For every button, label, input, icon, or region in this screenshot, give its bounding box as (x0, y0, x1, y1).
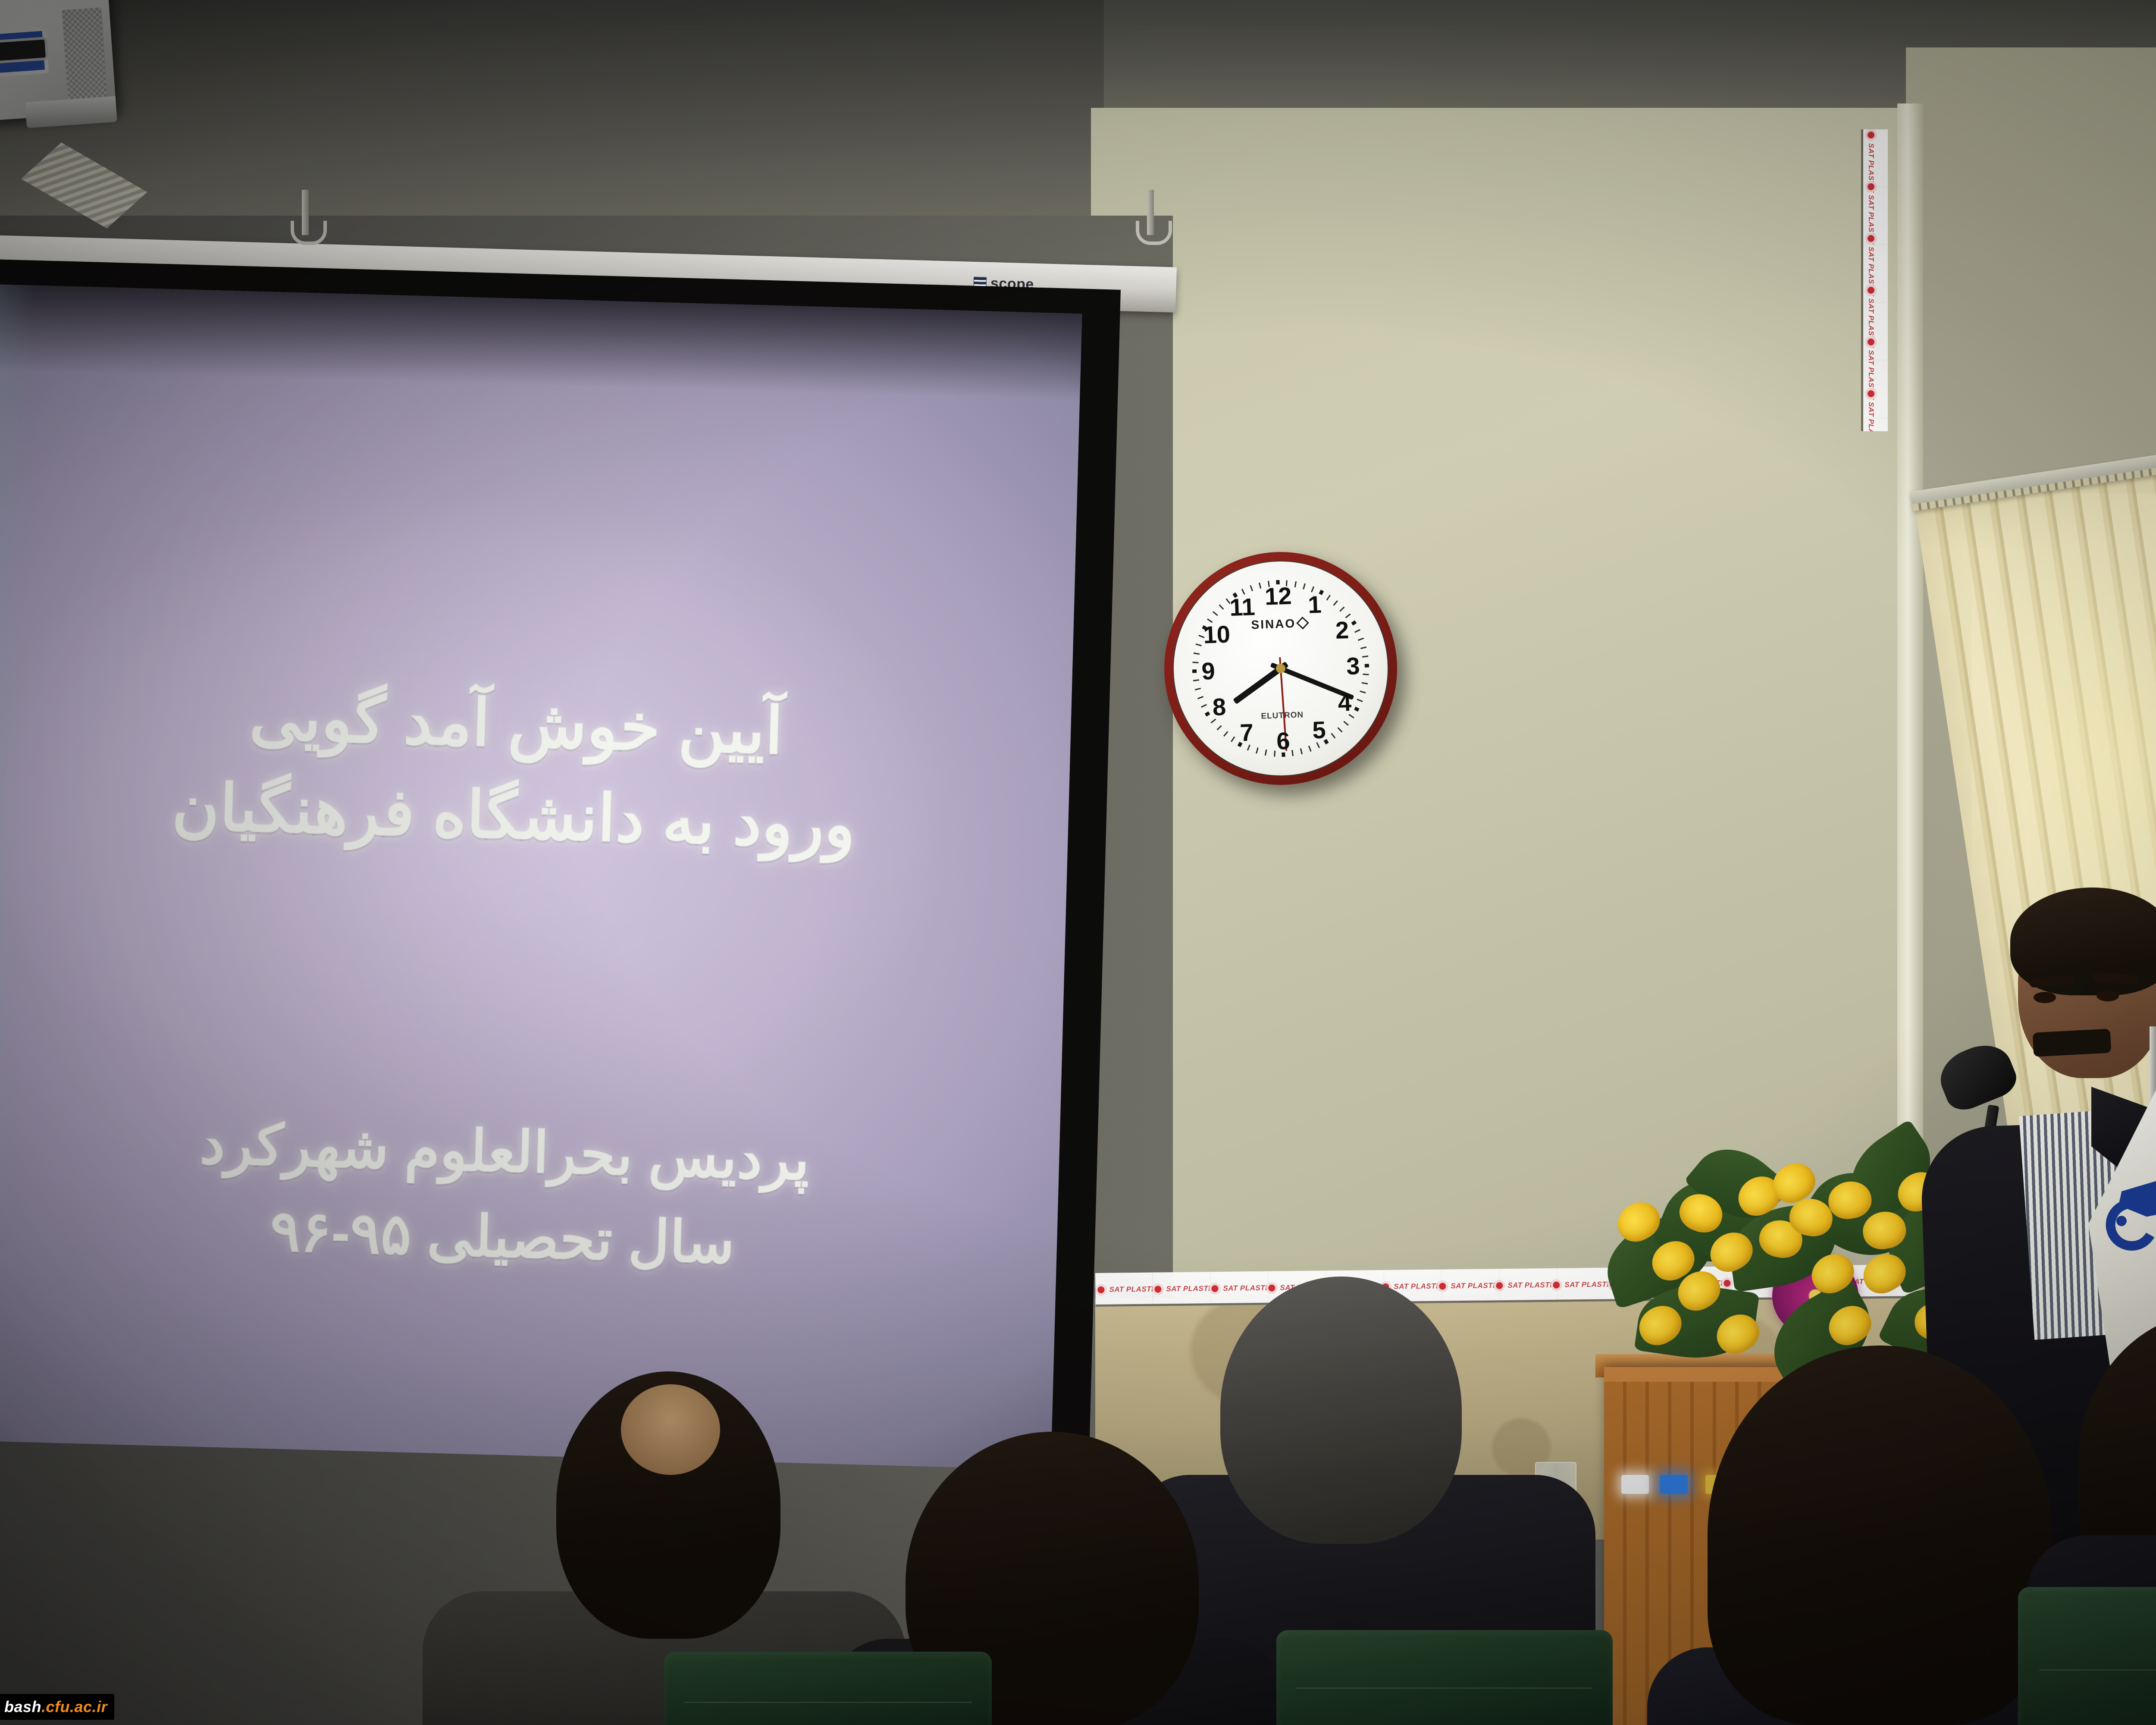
film-strip-logo-text: SAT PLASTIK (1507, 1281, 1557, 1290)
speaker-mustache (2033, 1029, 2112, 1057)
film-strip-logo-text: SAT PLASTIK (1867, 402, 1875, 431)
speaker-eye-right (2096, 990, 2119, 1001)
screen-ceiling-hook-left (302, 190, 309, 235)
clock-face: SINAO ELUTRON 121234567891011 (1169, 557, 1392, 780)
film-strip-logo: SAT PLASTIK (1437, 1276, 1493, 1296)
film-strip-logo-text: SAT PLASTIK (1394, 1282, 1444, 1291)
projector-vent (62, 7, 107, 100)
film-strip-logo-text: SAT PLASTIK (1166, 1284, 1216, 1293)
audience-bald-spot-1 (621, 1384, 720, 1475)
film-strip-logo: SAT PLASTIK (1494, 1275, 1550, 1295)
podium-led-white (1621, 1475, 1649, 1494)
film-strip-logo-text: SAT PLASTIK (1451, 1281, 1501, 1290)
podium-led-blue (1660, 1475, 1688, 1494)
film-strip-logo: SAT PLASTIK (1209, 1278, 1265, 1298)
slide-title-block: آیین خوش آمد گویی ورود به دانشگاه فرهنگی… (0, 663, 1072, 877)
watermark-part1: bash (4, 1698, 41, 1716)
audience-head-4 (1708, 1345, 2053, 1725)
film-strip-logo: SAT PLASTIK (1861, 129, 1881, 185)
film-strip-logo: SAT PLASTIK (1152, 1279, 1208, 1299)
screen-ceiling-hook-right (1147, 190, 1154, 235)
projection-screen: آیین خوش آمد گویی ورود به دانشگاه فرهنگی… (0, 259, 1121, 1471)
film-strip-logo: SAT PLASTIK (1861, 233, 1881, 289)
farhangian-university-logo (2104, 1174, 2156, 1263)
chair-2[interactable] (1276, 1630, 1613, 1725)
screen-projection-surface: آیین خوش آمد گویی ورود به دانشگاه فرهنگی… (0, 284, 1082, 1470)
film-strip-logo: SAT PLASTIK (1095, 1280, 1151, 1300)
corner-protective-film-strip: SAT PLASTIKSAT PLASTIKSAT PLASTIKSAT PLA… (1861, 129, 1888, 431)
film-strip-logo: SAT PLASTIK (1861, 336, 1881, 392)
photo-scene: SAT PLASTIKSAT PLASTIKSAT PLASTIKSAT PLA… (0, 0, 2156, 1725)
film-strip-logo: SAT PLASTIK (1861, 181, 1881, 237)
film-strip-logo: SAT PLASTIK (1861, 285, 1881, 341)
chair-1[interactable] (664, 1652, 992, 1725)
site-watermark: bash .cfu.ac.ir (0, 1694, 114, 1720)
film-strip-logo: SAT PLASTIK (1861, 388, 1881, 431)
projector-vga-port (0, 27, 49, 78)
speaker-eye-left (2034, 992, 2056, 1003)
slide-subtitle-block: پردیس بحرالعلوم شهرکرد سال تحصیلی ۹۵-۹۶ (0, 1094, 1060, 1295)
film-strip-logo-text: SAT PLASTIK (1223, 1284, 1273, 1293)
film-strip-logo-text: SAT PLASTIK (1109, 1285, 1159, 1294)
watermark-part2: .cfu.ac.ir (41, 1698, 107, 1716)
audience-head-2 (1220, 1276, 1462, 1544)
chair-3[interactable] (2018, 1587, 2156, 1725)
desk-flag: دانشگاه فرهنگیان (2078, 1071, 2156, 1369)
screen-left-tint (0, 284, 34, 1442)
